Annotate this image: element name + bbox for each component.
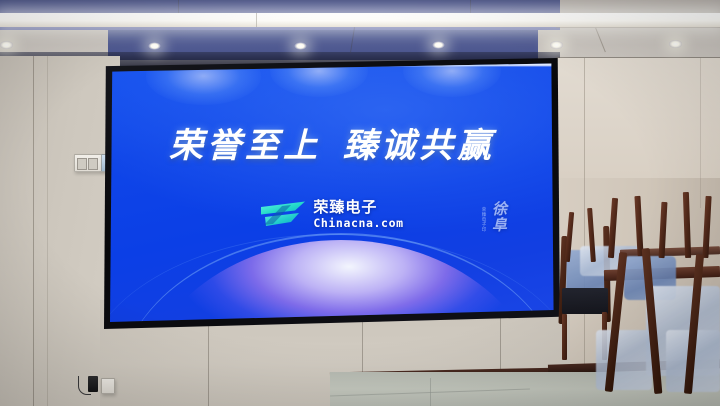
wrapped-furniture <box>596 330 652 390</box>
bottom-arc-rim <box>119 233 554 323</box>
conference-room-scene: 荣誉至上臻诚共赢 荣臻电子 Chinacna.com <box>0 0 720 406</box>
downlight-icon <box>294 42 307 50</box>
screen-light-glare <box>403 63 501 97</box>
ceiling-seam <box>470 0 471 13</box>
brand-name-cn: 荣臻电子 <box>313 200 403 215</box>
downlight-icon <box>148 42 161 50</box>
headline-left: 荣誉至上 <box>169 126 321 166</box>
headline-right: 臻诚共赢 <box>343 126 495 166</box>
switch-rocker[interactable] <box>88 158 98 170</box>
brand-url: Chinacna.com <box>313 218 403 230</box>
signature-caption: 荣臻电子印 <box>480 207 486 232</box>
wall-seam <box>584 58 585 376</box>
light-strip-seam <box>256 13 257 27</box>
company-logo-icon <box>260 200 306 230</box>
slide-headline: 荣誉至上臻诚共赢 <box>110 118 554 167</box>
power-cable <box>78 376 91 395</box>
chair-leg <box>562 314 567 360</box>
chair-seat <box>562 288 608 314</box>
slide-signature: 荣臻电子印 徐阜 <box>480 201 510 233</box>
switch-rocker[interactable] <box>77 158 87 170</box>
downlight-icon <box>432 41 445 49</box>
wall-right-upper <box>556 58 720 178</box>
bottom-arc-highlight <box>137 240 545 323</box>
floor-tile-line <box>430 378 431 406</box>
ceiling-light-strip <box>0 13 720 27</box>
bottom-arc-rim <box>110 234 554 323</box>
wall-seam <box>700 58 701 208</box>
light-switch-panel[interactable] <box>74 154 102 172</box>
downlight-icon <box>0 41 13 49</box>
power-outlet[interactable] <box>101 378 115 394</box>
signature-name: 徐阜 <box>489 201 510 233</box>
ceiling-edge <box>556 27 720 28</box>
wall-seam <box>33 56 34 406</box>
downlight-icon <box>550 41 563 49</box>
wall-seam <box>47 56 48 406</box>
ceiling-seam <box>178 0 179 14</box>
downlight-icon <box>669 40 682 48</box>
brand-text-block: 荣臻电子 Chinacna.com <box>313 200 403 230</box>
display-screen[interactable]: 荣誉至上臻诚共赢 荣臻电子 Chinacna.com <box>110 63 554 323</box>
